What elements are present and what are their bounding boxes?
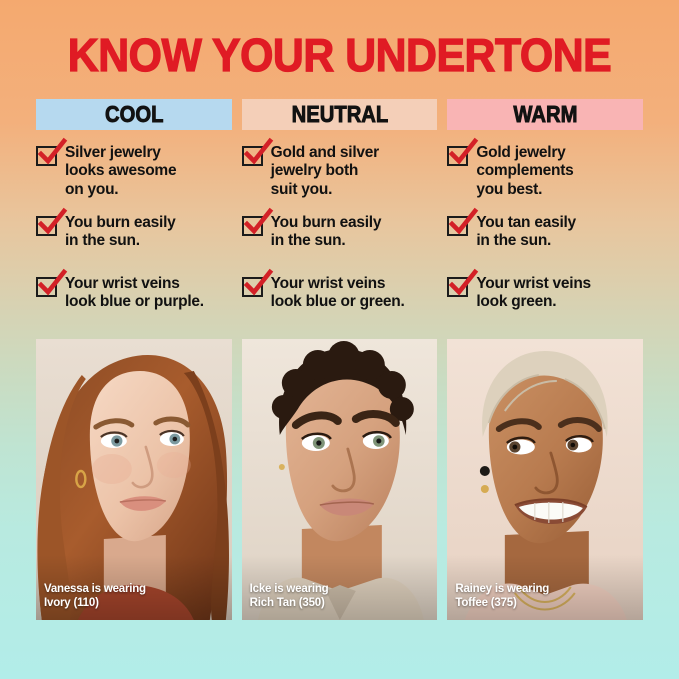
photo-caption: Icke is wearing Rich Tan (350) — [250, 583, 329, 609]
list-item: You tan easily in the sun. — [447, 214, 643, 260]
list-item: Your wrist veins look blue or purple. — [36, 275, 232, 321]
checkbox-checked-icon[interactable] — [242, 216, 263, 236]
list-item-text: Silver jewelry looks awesome on you. — [65, 144, 176, 199]
list-item: Silver jewelry looks awesome on you. — [36, 144, 232, 199]
list-item: Your wrist veins look blue or green. — [242, 275, 438, 321]
photo-icke: Icke is wearing Rich Tan (350) — [242, 339, 438, 620]
photo-rainey: Rainey is wearing Toffee (375) — [447, 339, 643, 620]
list-item: Your wrist veins look green. — [447, 275, 643, 321]
list-item-text: Your wrist veins look blue or green. — [271, 275, 405, 312]
list-item-text: Your wrist veins look blue or purple. — [65, 275, 204, 312]
checkbox-checked-icon[interactable] — [36, 146, 57, 166]
checkbox-checked-icon[interactable] — [447, 277, 468, 297]
checkbox-checked-icon[interactable] — [242, 146, 263, 166]
column-header-cool-label: COOL — [105, 101, 163, 128]
portrait-illustration-vanessa — [36, 339, 232, 620]
photo-caption: Vanessa is wearing Ivory (110) — [44, 583, 146, 609]
list-item: You burn easily in the sun. — [242, 214, 438, 260]
portrait-illustration-rainey — [447, 339, 643, 620]
list-item-text: You burn easily in the sun. — [271, 214, 382, 251]
column-header-cool: COOL — [36, 99, 232, 130]
page-title: KNOW YOUR UNDERTONE — [24, 0, 655, 78]
list-item-text: You burn easily in the sun. — [65, 214, 176, 251]
checklist-warm: Gold jewelry complements you best. You t… — [447, 144, 643, 321]
checkbox-checked-icon[interactable] — [242, 277, 263, 297]
list-item-text: You tan easily in the sun. — [476, 214, 576, 251]
column-header-neutral: NEUTRAL — [242, 99, 438, 130]
undertone-columns: COOL Silver jewelry looks awesome on you… — [0, 99, 679, 321]
checklist-neutral: Gold and silver jewelry both suit you. Y… — [242, 144, 438, 321]
checkbox-checked-icon[interactable] — [36, 277, 57, 297]
column-neutral: NEUTRAL Gold and silver jewelry both sui… — [242, 99, 438, 321]
list-item: Gold jewelry complements you best. — [447, 144, 643, 199]
list-item-text: Your wrist veins look green. — [476, 275, 591, 312]
portrait-illustration-icke — [242, 339, 438, 620]
column-warm: WARM Gold jewelry complements you best. … — [447, 99, 643, 321]
checkbox-checked-icon[interactable] — [447, 216, 468, 236]
list-item-text: Gold and silver jewelry both suit you. — [271, 144, 379, 199]
checkbox-checked-icon[interactable] — [447, 146, 468, 166]
list-item: Gold and silver jewelry both suit you. — [242, 144, 438, 199]
list-item: You burn easily in the sun. — [36, 214, 232, 260]
column-header-neutral-label: NEUTRAL — [291, 101, 388, 128]
column-cool: COOL Silver jewelry looks awesome on you… — [36, 99, 232, 321]
checkbox-checked-icon[interactable] — [36, 216, 57, 236]
checklist-cool: Silver jewelry looks awesome on you. You… — [36, 144, 232, 321]
list-item-text: Gold jewelry complements you best. — [476, 144, 573, 199]
photo-caption: Rainey is wearing Toffee (375) — [455, 583, 549, 609]
column-header-warm-label: WARM — [513, 101, 577, 128]
photo-vanessa: Vanessa is wearing Ivory (110) — [36, 339, 232, 620]
model-photos: Vanessa is wearing Ivory (110) — [0, 339, 679, 620]
column-header-warm: WARM — [447, 99, 643, 130]
